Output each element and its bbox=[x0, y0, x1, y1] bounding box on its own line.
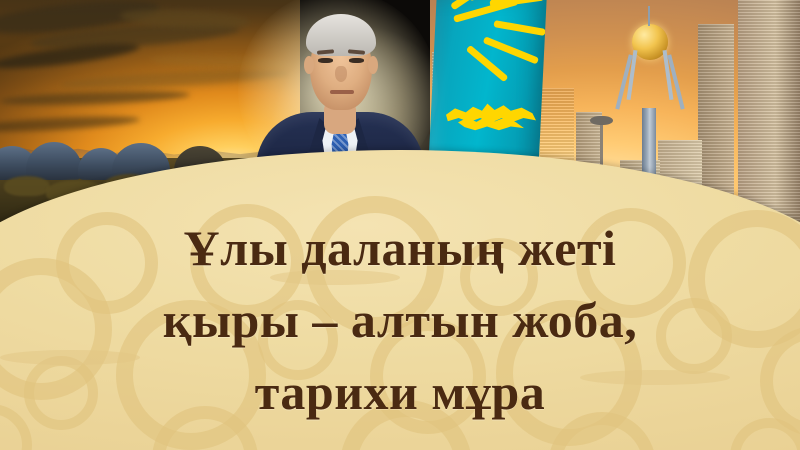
portrait-eye-left bbox=[318, 58, 333, 63]
sun-ray bbox=[489, 0, 544, 8]
headline-line-1: Ұлы даланың жеті bbox=[0, 212, 800, 284]
portrait-mouth bbox=[330, 90, 354, 94]
cloud-shape bbox=[0, 89, 190, 108]
headline-line-3: тарихи мұра bbox=[0, 356, 800, 428]
portrait-ear-right bbox=[368, 56, 378, 74]
portrait-ear-left bbox=[304, 56, 314, 74]
portrait-eye-right bbox=[349, 58, 364, 63]
headline-text: Ұлы даланың жеті қыры – алтын жоба, тари… bbox=[0, 212, 800, 428]
street-lamp-head bbox=[590, 116, 613, 125]
sun-ray bbox=[493, 20, 545, 36]
poster-canvas: Ұлы даланың жеті қыры – алтын жоба, тари… bbox=[0, 0, 800, 450]
headline-line-2: қыры – алтын жоба, bbox=[0, 284, 800, 356]
baiterek-tower-spike bbox=[648, 6, 650, 26]
yurt-icon bbox=[26, 142, 82, 180]
portrait-nose bbox=[335, 66, 347, 82]
grass-tuft bbox=[4, 176, 50, 196]
sun-ray bbox=[483, 36, 539, 64]
cloud-shape bbox=[0, 114, 140, 135]
